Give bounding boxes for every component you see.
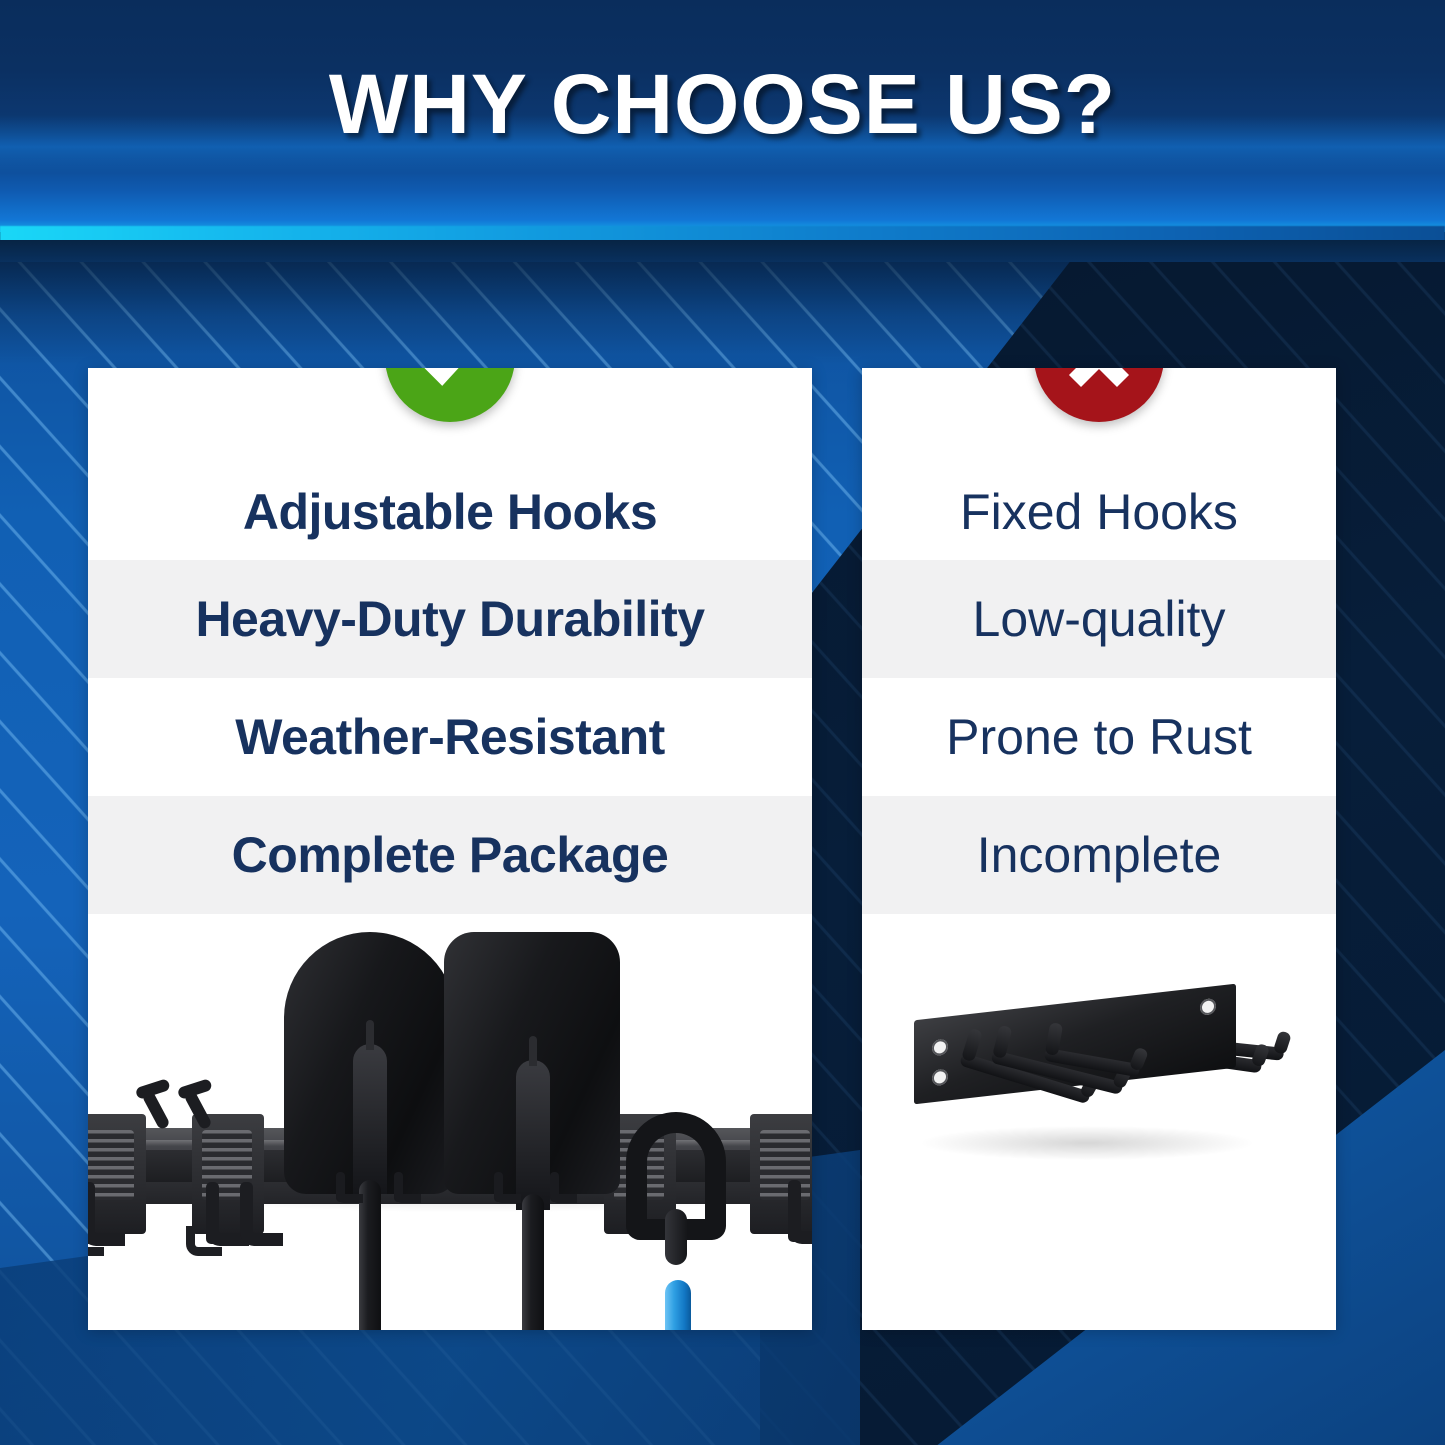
product-shadow bbox=[922, 1126, 1252, 1160]
pros-row-label: Heavy-Duty Durability bbox=[195, 593, 704, 646]
pros-row: Heavy-Duty Durability bbox=[88, 560, 812, 678]
cons-row-label: Fixed Hooks bbox=[960, 486, 1238, 539]
d-grip bbox=[626, 1112, 726, 1240]
j-hook bbox=[88, 1182, 95, 1244]
mounting-bolt-hole bbox=[932, 1068, 948, 1086]
pros-row-label: Complete Package bbox=[232, 829, 669, 882]
square-point-shovel bbox=[444, 932, 620, 1330]
mounting-bolt-hole bbox=[1200, 998, 1216, 1016]
pros-row: Complete Package bbox=[88, 796, 812, 914]
pros-product-image bbox=[88, 914, 812, 1330]
small-hook bbox=[550, 1172, 559, 1202]
upright-hook bbox=[183, 1090, 212, 1131]
pros-row-label: Adjustable Hooks bbox=[243, 486, 657, 539]
blade-rib bbox=[353, 1044, 387, 1194]
j-hook bbox=[788, 1180, 801, 1242]
cons-card: Fixed Hooks Low-quality Prone to Rust In… bbox=[862, 368, 1336, 1330]
mounting-bolt-hole bbox=[932, 1038, 948, 1056]
pros-row-label: Weather-Resistant bbox=[235, 711, 665, 764]
small-hook bbox=[494, 1172, 503, 1202]
tool-handle-blue bbox=[665, 1280, 691, 1330]
cons-product-image bbox=[862, 914, 1336, 1330]
round-point-shovel bbox=[284, 932, 456, 1330]
blade-rib bbox=[516, 1060, 550, 1210]
pros-row-list: Adjustable Hooks Heavy-Duty Durability W… bbox=[88, 368, 812, 914]
pros-card: Adjustable Hooks Heavy-Duty Durability W… bbox=[88, 368, 812, 1330]
bracket-spring bbox=[760, 1130, 810, 1200]
j-hook bbox=[240, 1182, 253, 1244]
tool-handle-upper bbox=[522, 1194, 544, 1330]
cons-row-label: Incomplete bbox=[977, 829, 1222, 882]
small-hook bbox=[336, 1172, 345, 1202]
small-hook bbox=[394, 1172, 403, 1202]
cons-row-label: Low-quality bbox=[973, 593, 1226, 646]
cons-row: Prone to Rust bbox=[862, 678, 1336, 796]
infographic-canvas: WHY CHOOSE US? Adjustable Hooks Heavy-Du… bbox=[0, 0, 1445, 1445]
d-handle-tool bbox=[618, 1112, 758, 1330]
cons-row: Incomplete bbox=[862, 796, 1336, 914]
cons-row-label: Prone to Rust bbox=[946, 711, 1252, 764]
cons-row: Low-quality bbox=[862, 560, 1336, 678]
pros-row: Weather-Resistant bbox=[88, 678, 812, 796]
cons-row-list: Fixed Hooks Low-quality Prone to Rust In… bbox=[862, 368, 1336, 914]
comparison-cards: Adjustable Hooks Heavy-Duty Durability W… bbox=[0, 0, 1445, 1445]
j-hook bbox=[206, 1182, 219, 1244]
